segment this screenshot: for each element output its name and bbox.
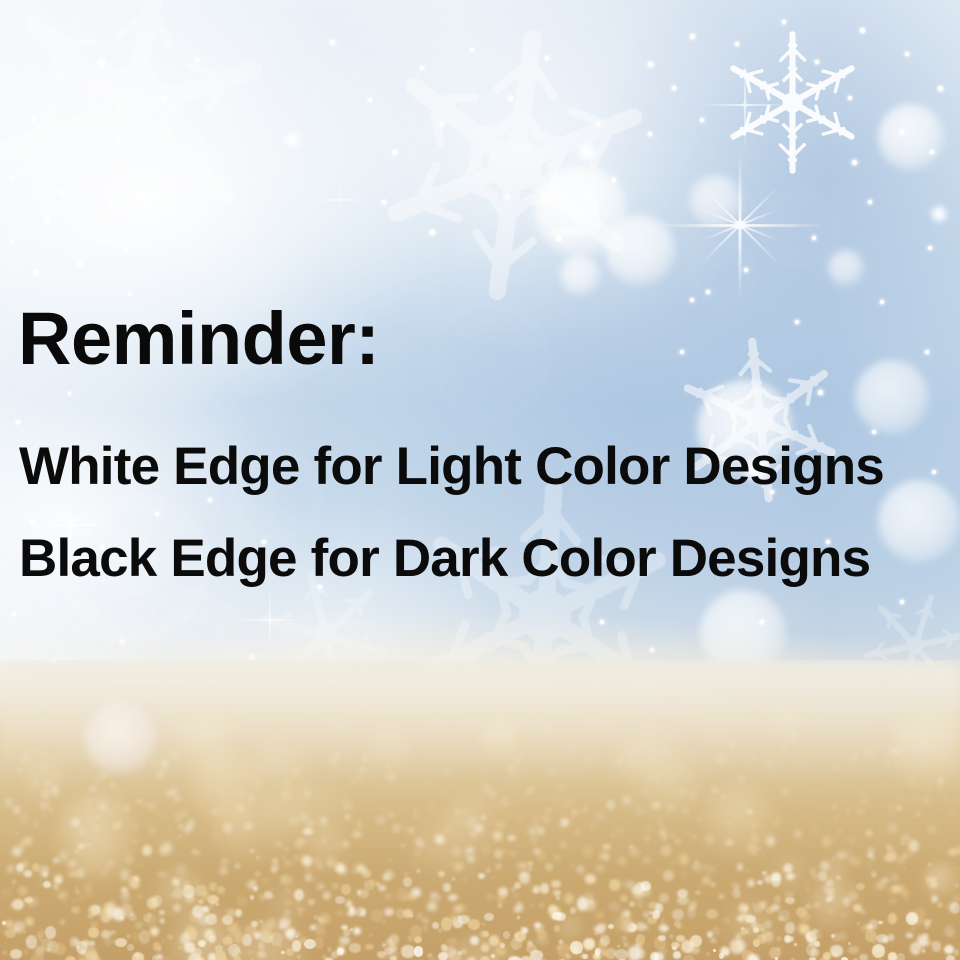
glitter-speck (424, 881, 426, 884)
glitter-speck (38, 929, 45, 937)
glitter-bokeh (703, 784, 778, 859)
glitter-speck (903, 867, 906, 870)
glitter-speck (899, 889, 909, 896)
snow-dot (250, 655, 254, 659)
snow-dot (30, 520, 34, 524)
glitter-speck (643, 911, 650, 918)
glitter-speck (529, 826, 538, 835)
glitter-speck (128, 914, 137, 921)
glitter-speck (422, 918, 428, 924)
glitter-speck (10, 949, 22, 959)
glitter-speck (530, 903, 535, 908)
snow-dot (706, 290, 710, 294)
glitter-speck (484, 913, 495, 921)
glitter-speck (680, 872, 687, 877)
glitter-speck (31, 954, 44, 960)
glitter-speck (531, 836, 538, 844)
glitter-speck (732, 889, 741, 899)
snow-dot (700, 118, 704, 122)
glitter-speck (697, 817, 702, 822)
glitter-speck (693, 864, 701, 870)
glitter-speck (27, 939, 30, 942)
snow-dot (672, 86, 676, 90)
glitter-speck (496, 804, 498, 807)
glitter-speck (483, 784, 490, 791)
glitter-speck (544, 816, 550, 822)
glitter-speck (314, 937, 324, 949)
glitter-speck (184, 831, 189, 836)
snow-dot (10, 176, 14, 180)
glitter-speck (791, 784, 793, 786)
glitter-speck (891, 873, 899, 882)
glitter-speck (565, 799, 573, 805)
glitter-speck (519, 956, 532, 960)
snow-dot (690, 298, 694, 302)
glitter-speck (458, 915, 461, 919)
glitter-speck (812, 874, 818, 879)
glitter-speck (150, 927, 159, 936)
glitter-speck (441, 917, 453, 931)
glitter-speck (583, 807, 588, 812)
glitter-speck (957, 785, 959, 787)
glitter-speck (810, 948, 818, 957)
glitter-speck (821, 817, 823, 819)
glitter-speck (814, 789, 819, 793)
glitter-speck (812, 823, 815, 826)
glitter-speck (862, 796, 869, 804)
glitter-speck (160, 853, 165, 857)
glitter-speck (785, 922, 795, 934)
glitter-speck (539, 903, 544, 909)
glitter-speck (755, 866, 759, 869)
glitter-speck (812, 828, 818, 833)
glitter-speck (878, 921, 883, 925)
glitter-speck (188, 819, 195, 827)
glitter-speck (687, 949, 692, 954)
glitter-speck (665, 927, 670, 931)
glitter-speck (353, 927, 361, 935)
snow-dot (735, 42, 739, 46)
glitter-speck (23, 949, 28, 954)
glitter-speck (214, 869, 217, 872)
glitter-speck (834, 816, 840, 821)
glitter-speck (319, 913, 332, 924)
glitter-speck (142, 845, 152, 856)
sparkle-ray (703, 209, 778, 241)
snow-dot (12, 612, 16, 616)
glitter-speck (250, 895, 254, 900)
glitter-speck (671, 942, 679, 948)
snow-dot (872, 430, 876, 434)
glitter-speck (376, 882, 380, 886)
glitter-speck (806, 888, 810, 892)
glitter-speck (138, 894, 143, 898)
glitter-speck (383, 920, 386, 923)
snow-dot (440, 122, 444, 126)
snowflake-icon (0, 0, 308, 288)
glitter-speck (529, 868, 532, 870)
glitter-speck (358, 825, 362, 830)
glitter-speck (888, 934, 894, 941)
bokeh-light (690, 240, 756, 306)
snow-dot (33, 270, 38, 275)
glitter-speck (76, 941, 87, 953)
glitter-speck (372, 784, 374, 786)
snow-dot (852, 160, 857, 165)
glitter-speck (85, 951, 98, 960)
glitter-speck (372, 795, 377, 800)
glitter-speck (430, 801, 433, 804)
glitter-speck (583, 845, 593, 857)
glitter-speck (856, 883, 865, 891)
glitter-speck (620, 895, 628, 902)
glitter-speck (663, 870, 674, 881)
glitter-speck (848, 942, 851, 945)
sparkle-core (67, 522, 74, 529)
snow-dot (860, 28, 865, 33)
glitter-speck (369, 934, 373, 937)
glitter-speck (711, 938, 715, 943)
glitter-speck (932, 941, 941, 951)
snow-dot (596, 122, 600, 126)
sparkle-core (338, 198, 342, 202)
glitter-speck (384, 893, 392, 899)
glitter-speck (527, 941, 533, 946)
glitter-speck (32, 863, 40, 872)
glitter-speck (217, 886, 224, 894)
glitter-speck (360, 909, 367, 917)
snow-dot (900, 600, 904, 604)
glitter-speck (533, 818, 537, 822)
glitter-speck (620, 920, 632, 932)
glitter-speck (635, 948, 645, 959)
glitter-speck (406, 893, 417, 901)
glitter-speck (20, 815, 28, 823)
glitter-speck (129, 876, 140, 889)
glitter-speck (145, 788, 148, 790)
glitter-speck (670, 832, 677, 839)
glitter-bokeh (270, 884, 311, 925)
glitter-speck (271, 867, 277, 873)
glitter-speck (844, 851, 851, 856)
glitter-speck (197, 852, 201, 856)
snow-dot (932, 470, 936, 474)
glitter-speck (867, 853, 874, 859)
glitter-speck (789, 892, 794, 896)
glitter-speck (781, 788, 789, 794)
glitter-speck (403, 877, 412, 887)
glitter-speck (18, 886, 28, 897)
snow-dot (330, 40, 335, 45)
glitter-speck (413, 862, 417, 866)
glitter-speck (900, 797, 904, 801)
snow-dot (68, 392, 71, 395)
glitter-speck (659, 947, 668, 955)
snow-dot (782, 20, 786, 24)
glitter-bokeh (233, 920, 308, 960)
glitter-speck (486, 868, 490, 873)
glitter-speck (3, 951, 6, 954)
glitter-speck (156, 954, 163, 960)
glitter-speck (38, 882, 42, 885)
glitter-speck (798, 820, 802, 824)
snow-dot (760, 620, 764, 624)
glitter-speck (261, 877, 270, 885)
glitter-speck (861, 910, 866, 914)
glitter-speck (884, 783, 886, 785)
glitter-speck (428, 805, 433, 810)
glitter-top-fade (0, 660, 960, 780)
glitter-speck (155, 809, 162, 817)
glitter-speck (341, 884, 351, 895)
bokeh-light (560, 255, 600, 295)
snow-dot (680, 350, 684, 354)
glitter-speck (120, 893, 130, 903)
glitter-speck (859, 954, 868, 960)
glitter-speck (938, 844, 944, 851)
glitter-speck (702, 876, 711, 885)
glitter-speck (500, 799, 509, 807)
glitter-speck (857, 807, 864, 816)
glitter-speck (143, 803, 146, 807)
bokeh-light (855, 360, 929, 434)
glitter-speck (745, 869, 749, 873)
glitter-speck (896, 806, 902, 811)
glitter-speck (209, 882, 217, 891)
glitter-speck (52, 804, 56, 808)
glitter-speck (113, 908, 124, 921)
glitter-speck (611, 835, 614, 838)
glitter-speck (500, 788, 504, 791)
glitter-speck (618, 857, 627, 865)
reminder-line-light: White Edge for Light Color Designs (19, 440, 884, 493)
glitter-speck (46, 802, 50, 806)
glitter-speck (423, 926, 428, 931)
snow-dot (430, 230, 435, 235)
snow-dot (52, 142, 55, 145)
glitter-speck (785, 897, 795, 904)
glitter-speck (598, 800, 602, 804)
glitter-speck (427, 902, 437, 911)
glitter-speck (448, 894, 458, 901)
snow-dot (648, 132, 652, 136)
glitter-bokeh (446, 793, 500, 847)
glitter-speck (43, 872, 48, 877)
glitter-speck (888, 918, 895, 923)
glitter-speck (517, 816, 521, 820)
glitter-speck (60, 920, 64, 924)
snow-dot (155, 512, 159, 516)
glitter-speck (678, 925, 681, 928)
glitter-speck (655, 903, 664, 913)
glitter-speck (556, 945, 563, 950)
sparkle-ray (655, 224, 825, 227)
glitter-speck (869, 919, 878, 930)
snow-dot (505, 195, 509, 199)
glitter-speck (564, 893, 575, 905)
glitter-speck (137, 862, 142, 866)
glitter-speck (596, 864, 604, 873)
glitter-speck (328, 948, 331, 951)
glitter-speck (504, 811, 512, 818)
glitter-speck (135, 921, 144, 929)
glitter-speck (64, 902, 67, 905)
glitter-speck (734, 884, 739, 890)
glitter-speck (185, 790, 188, 792)
glitter-speck (510, 851, 516, 856)
glitter-speck (617, 945, 621, 948)
glitter-speck (570, 846, 573, 849)
glitter-speck (906, 933, 912, 938)
bokeh-light (930, 205, 948, 223)
glitter-speck (647, 848, 650, 850)
glitter-speck (247, 881, 256, 889)
snow-dot (162, 96, 167, 101)
glitter-speck (597, 814, 605, 819)
glitter-speck (357, 821, 362, 826)
glitter-speck (695, 890, 701, 895)
snow-dot (868, 200, 872, 204)
glitter-speck (644, 826, 653, 833)
glitter-speck (656, 818, 663, 826)
sparkle-ray (25, 524, 115, 526)
glitter-speck (858, 790, 865, 795)
glitter-speck (403, 909, 413, 919)
glitter-speck (574, 829, 581, 834)
glitter-speck (956, 846, 960, 855)
glitter-speck (542, 925, 546, 928)
glitter-speck (584, 898, 596, 911)
glitter-speck (839, 791, 842, 794)
glitter-speck (625, 910, 630, 916)
snow-dot (116, 139, 120, 143)
glitter-speck (517, 863, 526, 870)
snow-dot (470, 48, 474, 52)
snow-dot (815, 60, 819, 64)
glitter-speck (27, 799, 30, 801)
glitter-speck (683, 955, 695, 960)
glitter-speck (775, 862, 777, 864)
sparkle-core (268, 618, 273, 623)
glitter-speck (676, 839, 682, 845)
glitter-speck (16, 843, 25, 851)
glitter-speck (163, 816, 165, 818)
glitter-speck (338, 866, 347, 875)
sparkle-core (735, 220, 745, 230)
glitter-speck (704, 789, 708, 792)
glitter-speck (16, 832, 19, 836)
glitter-speck (357, 890, 362, 895)
glitter-speck (554, 856, 561, 861)
glitter-speck (545, 808, 552, 814)
glitter-speck (630, 848, 639, 856)
glitter-speck (24, 897, 33, 904)
glitter-speck (352, 831, 362, 838)
snow-dot (508, 96, 513, 101)
glitter-speck (497, 896, 505, 902)
sparkle-ray (339, 173, 340, 227)
bokeh-light (690, 175, 742, 227)
snow-dot (10, 240, 13, 243)
snow-dot (818, 390, 823, 395)
sparkle-core (742, 102, 748, 108)
snow-dot (124, 248, 127, 251)
glitter-speck (517, 916, 521, 919)
glitter-speck (115, 938, 128, 947)
snowflake-icon (351, 1, 679, 329)
glitter-speck (710, 882, 716, 887)
glitter-speck (832, 805, 837, 810)
snow-dot (612, 178, 616, 182)
glitter-speck (485, 893, 495, 901)
page-title: Reminder: (18, 302, 379, 376)
glitter-speck (757, 880, 764, 886)
glitter-speck (498, 903, 502, 908)
glitter-speck (494, 849, 503, 859)
sparkle-ray (310, 199, 370, 200)
star-sparkle (310, 170, 370, 230)
glitter-speck (281, 854, 286, 859)
glitter-bokeh (724, 901, 775, 952)
glitter-speck (7, 802, 12, 807)
bokeh-light (605, 215, 675, 285)
glitter-speck (853, 784, 857, 788)
glitter-speck (482, 923, 485, 926)
glitter-speck (764, 875, 773, 883)
glitter-speck (453, 920, 463, 928)
glitter-speck (390, 859, 392, 861)
glitter-speck (691, 834, 697, 840)
glitter-speck (352, 870, 355, 872)
bokeh-light (282, 130, 302, 150)
glitter-speck (599, 852, 610, 860)
glitter-speck (778, 814, 781, 817)
glitter-speck (528, 861, 534, 866)
glitter-speck (254, 871, 261, 877)
glitter-speck (25, 917, 34, 926)
glitter-speck (339, 936, 350, 945)
glitter-speck (557, 784, 565, 792)
glitter-speck (908, 840, 918, 852)
glitter-speck (540, 883, 549, 893)
glitter-speck (553, 890, 560, 896)
glitter-speck (910, 942, 921, 956)
glitter-speck (357, 865, 366, 872)
glitter-speck (848, 856, 855, 863)
glitter-speck (924, 922, 930, 929)
glitter-speck (392, 823, 401, 833)
glitter-speck (634, 805, 643, 815)
glitter-speck (778, 916, 785, 921)
glitter-speck (608, 924, 614, 929)
glitter-speck (417, 869, 420, 873)
glitter-speck (837, 932, 847, 941)
glitter-speck (622, 828, 625, 830)
glitter-speck (847, 837, 856, 844)
glitter-speck (848, 946, 859, 955)
glitter-speck (803, 882, 808, 886)
glitter-speck (162, 842, 172, 854)
glitter-speck (706, 927, 710, 931)
snow-dot (925, 350, 929, 354)
glitter-speck (887, 813, 892, 817)
glitter-speck (443, 883, 451, 891)
glitter-speck (513, 894, 517, 898)
glitter-speck (397, 812, 400, 815)
glitter-speck (154, 910, 156, 912)
glitter-speck (47, 948, 50, 951)
glitter-speck (686, 831, 690, 834)
